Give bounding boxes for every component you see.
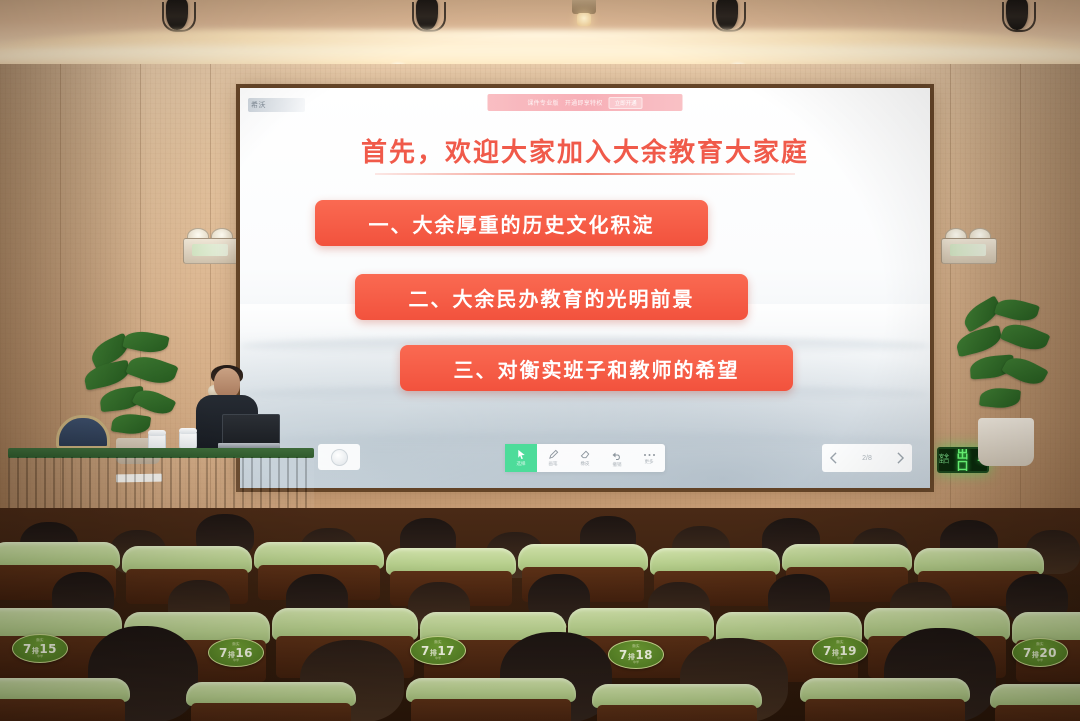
tool-eraser-button[interactable]: 橡皮 <box>569 444 601 472</box>
seat-badge-number: 7排17 <box>421 645 455 657</box>
seat-badge: 衡实 7排16 中学 <box>208 638 264 667</box>
seat-badge-top: 衡实 <box>232 643 240 647</box>
agenda-item-1: 一、大余厚重的历史文化积淀 <box>315 200 708 246</box>
promo-text-secondary: 开通即享特权 <box>565 98 603 107</box>
promo-banner[interactable]: 课件专业版 开通即享特权 立即开通 <box>488 94 683 111</box>
slide-toolbar[interactable]: 选择 画笔 橡皮 <box>505 444 665 472</box>
agenda-item-3: 三、对衡实班子和教师的希望 <box>400 345 793 391</box>
laptop <box>218 414 280 450</box>
seat-badge-bottom: 中学 <box>233 659 239 662</box>
agenda-item-2: 二、大余民办教育的光明前景 <box>355 274 748 320</box>
tool-undo-button[interactable]: 撤销 <box>601 444 633 472</box>
tool-undo-label: 撤销 <box>613 462 622 468</box>
page-indicator: 2/8 <box>862 455 872 462</box>
chevron-right-icon[interactable] <box>896 452 905 464</box>
slide-home-button[interactable] <box>318 444 360 470</box>
ellipsis-icon <box>643 452 656 458</box>
tool-pen-label: 画笔 <box>549 461 558 467</box>
pen-icon <box>548 449 559 460</box>
seat-badge: 衡实 7排18 中学 <box>608 640 664 669</box>
promo-activate-button[interactable]: 立即开通 <box>609 97 643 109</box>
seat-badge: 衡实 7排20 中学 <box>1012 638 1068 667</box>
cursor-icon <box>516 449 527 460</box>
ceiling-spotlight <box>1000 0 1034 40</box>
seat-badge-number: 7排16 <box>219 647 253 659</box>
auditorium-photo: 安全出口 出口 ➜ 希沃 课件专业版 开通即享特权 立即开通 首先，欢迎大家加入… <box>0 0 1080 721</box>
audience-seating: 衡实 6排16 中学 衡实 7排15 中学 衡实 7排16 中学 衡实 7 <box>0 508 1080 721</box>
seat-badge: 衡实 7排15 中学 <box>12 634 68 663</box>
software-logo: 希沃 <box>248 98 305 112</box>
seat-badge-bottom: 中学 <box>1037 659 1043 662</box>
seat-badge-bottom: 中学 <box>837 657 843 660</box>
ceiling-pendant-light <box>566 0 602 28</box>
agenda-item-1-label: 一、大余厚重的历史文化积淀 <box>369 209 655 238</box>
seat-badge-number: 7排20 <box>1023 647 1057 659</box>
ceiling <box>0 0 1080 70</box>
tool-eraser-label: 橡皮 <box>581 461 590 467</box>
presenter-head <box>214 368 240 398</box>
seat-badge-number: 7排19 <box>823 645 857 657</box>
promo-text-primary: 课件专业版 <box>527 98 559 107</box>
seat-badge-top: 衡实 <box>434 641 442 645</box>
projection-screen: 希沃 课件专业版 开通即享特权 立即开通 首先，欢迎大家加入大余教育大家庭 一、… <box>240 88 930 488</box>
seat-badge: 衡实 7排17 中学 <box>410 636 466 665</box>
emergency-light <box>941 228 995 262</box>
tool-pen-button[interactable]: 画笔 <box>537 444 569 472</box>
presentation-slide: 希沃 课件专业版 开通即享特权 立即开通 首先，欢迎大家加入大余教育大家庭 一、… <box>240 88 930 488</box>
chevron-left-icon[interactable] <box>829 452 838 464</box>
seat-badge-bottom: 中学 <box>633 661 639 664</box>
undo-arrow-icon <box>611 449 623 461</box>
tool-select-label: 选择 <box>517 461 526 467</box>
tool-more-button[interactable]: 更多 <box>633 444 665 472</box>
software-logo-text: 希沃 <box>251 100 266 110</box>
seat-badge-number: 7排18 <box>619 649 653 661</box>
home-icon <box>331 449 348 466</box>
slide-pager[interactable]: 2/8 <box>822 444 912 472</box>
seat-badge-number: 7排15 <box>23 643 57 655</box>
plant-pot <box>978 418 1034 466</box>
seat-badge-top: 衡实 <box>36 639 44 643</box>
seat-badge-top: 衡实 <box>632 645 640 649</box>
slide-title: 首先，欢迎大家加入大余教育大家庭 <box>240 132 930 169</box>
tool-more-label: 更多 <box>645 459 654 465</box>
eraser-icon <box>580 449 591 460</box>
seat-badge-bottom: 中学 <box>37 655 43 658</box>
potted-plant-right <box>952 300 1062 465</box>
agenda-item-3-label: 三、对衡实班子和教师的希望 <box>454 354 740 383</box>
agenda-item-2-label: 二、大余民办教育的光明前景 <box>409 283 695 312</box>
title-underline <box>375 173 795 175</box>
seat-badge: 衡实 7排19 中学 <box>812 636 868 665</box>
seat-badge-bottom: 中学 <box>435 657 441 660</box>
seat-badge-top: 衡实 <box>836 641 844 645</box>
seat-badge-top: 衡实 <box>1036 643 1044 647</box>
emergency-light <box>183 228 237 262</box>
tool-select-button[interactable]: 选择 <box>505 444 537 472</box>
